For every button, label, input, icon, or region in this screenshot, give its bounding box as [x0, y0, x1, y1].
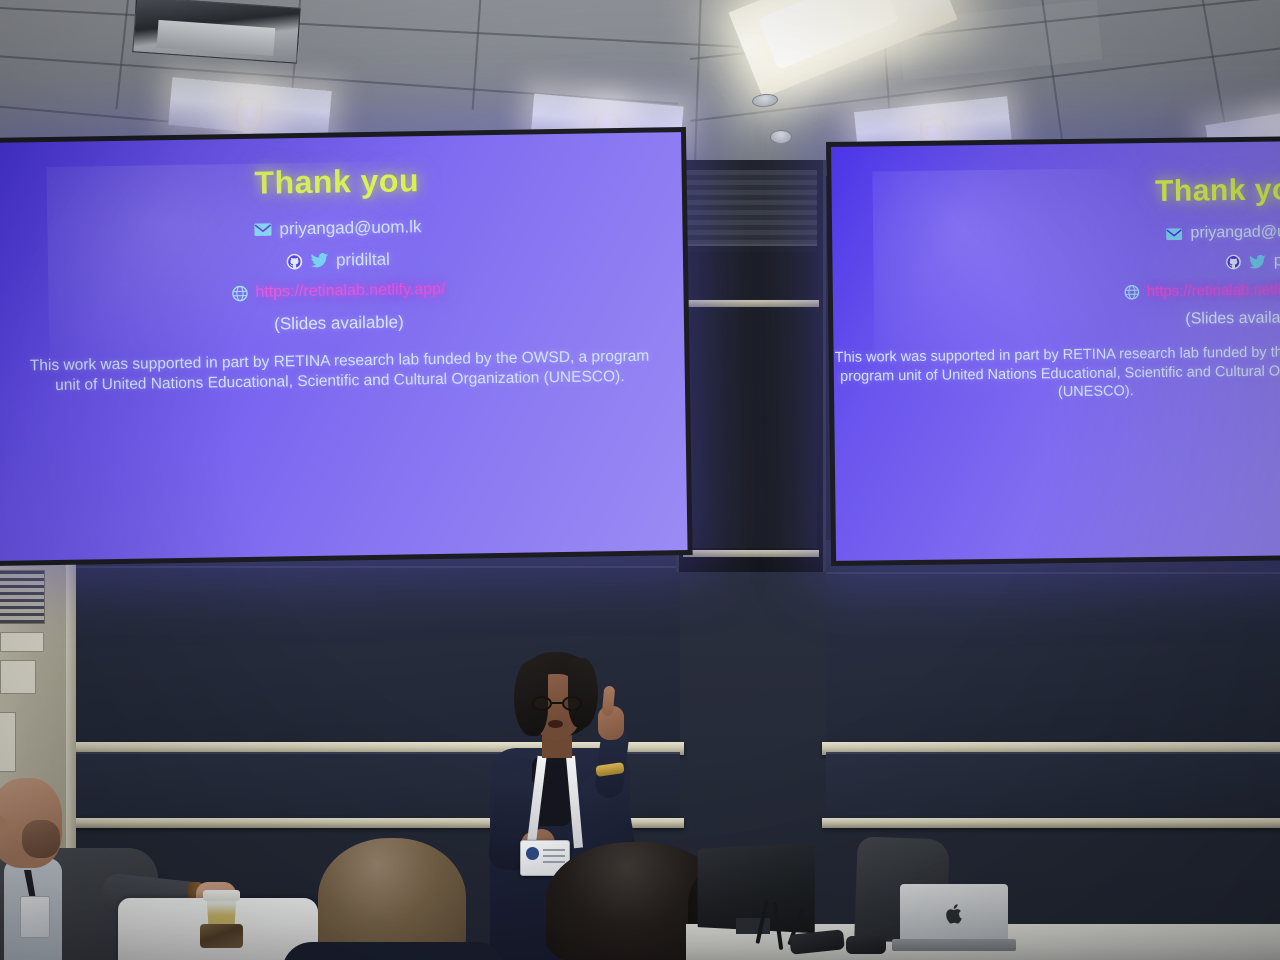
- slide-email-text-right: priyangad@uom.lk: [1190, 223, 1280, 243]
- badge-logo-icon: [526, 847, 539, 860]
- chalk-rail-right-lower: [822, 818, 1280, 828]
- left-projection-screen: Thank you priyangad@uom.lk: [0, 127, 693, 566]
- globe-icon: [1124, 284, 1140, 300]
- lecture-hall-photo: Thank you priyangad@uom.lk: [0, 0, 1280, 960]
- globe-icon: [231, 284, 248, 301]
- presenter-mouth: [548, 720, 563, 728]
- slide-title: Thank you: [254, 162, 419, 202]
- smoke-detector-icon: [751, 93, 778, 108]
- desk-peripheral-2: [846, 936, 886, 954]
- right-projection-screen: Thank you priyangad@uom.lk: [826, 136, 1280, 566]
- github-icon: [286, 253, 303, 270]
- slide-url-row-right[interactable]: https://retinalab.netlify.app/: [1124, 281, 1280, 300]
- audience-badge: [20, 896, 50, 938]
- envelope-icon: [253, 223, 272, 237]
- slide-handle-text: pridiltal: [336, 250, 390, 271]
- macbook-laptop: [900, 884, 1008, 940]
- slide-email-row: priyangad@uom.lk: [253, 217, 421, 240]
- coffee-cup-sleeve: [200, 924, 243, 948]
- badge-text-lines: [543, 849, 565, 865]
- slide-email-text: priyangad@uom.lk: [279, 217, 421, 239]
- eyeglasses-icon: [532, 696, 582, 711]
- slide-url-text[interactable]: https://retinalab.netlify.app/: [255, 281, 445, 302]
- roller-shutter: [685, 170, 817, 246]
- audience-beard: [22, 820, 60, 858]
- coffee-cup-lid: [203, 890, 240, 901]
- sprinkler-head-icon: [770, 130, 792, 144]
- slide-title-right: Thank you: [1155, 173, 1280, 209]
- coffee-cup: [205, 890, 238, 936]
- twitter-icon: [310, 253, 329, 269]
- slide-slides-note: (Slides available): [274, 312, 404, 334]
- twitter-icon: [1249, 254, 1267, 269]
- slide-acknowledgement: This work was supported in part by RETIN…: [19, 346, 661, 396]
- audience-member-center: [318, 838, 466, 960]
- github-icon: [1226, 254, 1242, 270]
- monitor-stand: [736, 918, 770, 934]
- slide-url-text-right[interactable]: https://retinalab.netlify.app/: [1147, 281, 1280, 300]
- vent-grille-icon: [0, 570, 45, 624]
- slide-content-left: Thank you priyangad@uom.lk: [0, 132, 688, 561]
- slide-acknowledgement-right: This work was supported in part by RETIN…: [831, 342, 1280, 405]
- slide-handle-text-right: pridiltal: [1274, 252, 1280, 271]
- wall-alcove-recess: [676, 160, 826, 572]
- slide-social-row-right: pridiltal: [1226, 252, 1280, 271]
- envelope-icon: [1165, 227, 1183, 240]
- blackboard-right-lower: [826, 752, 1280, 822]
- ceiling-downlight-1: [168, 77, 332, 139]
- presenter-hair-right: [568, 658, 598, 728]
- blackboard-right: [826, 572, 1280, 748]
- slide-social-row: pridiltal: [286, 250, 390, 272]
- slide-url-row[interactable]: https://retinalab.netlify.app/: [231, 281, 445, 302]
- apple-logo-icon: [945, 904, 963, 924]
- slide-email-row-right: priyangad@uom.lk: [1165, 223, 1280, 243]
- slide-slides-note-right: (Slides available): [1185, 309, 1280, 328]
- ceiling-air-vent: [132, 0, 301, 64]
- slide-content-right: Thank you priyangad@uom.lk: [831, 141, 1280, 561]
